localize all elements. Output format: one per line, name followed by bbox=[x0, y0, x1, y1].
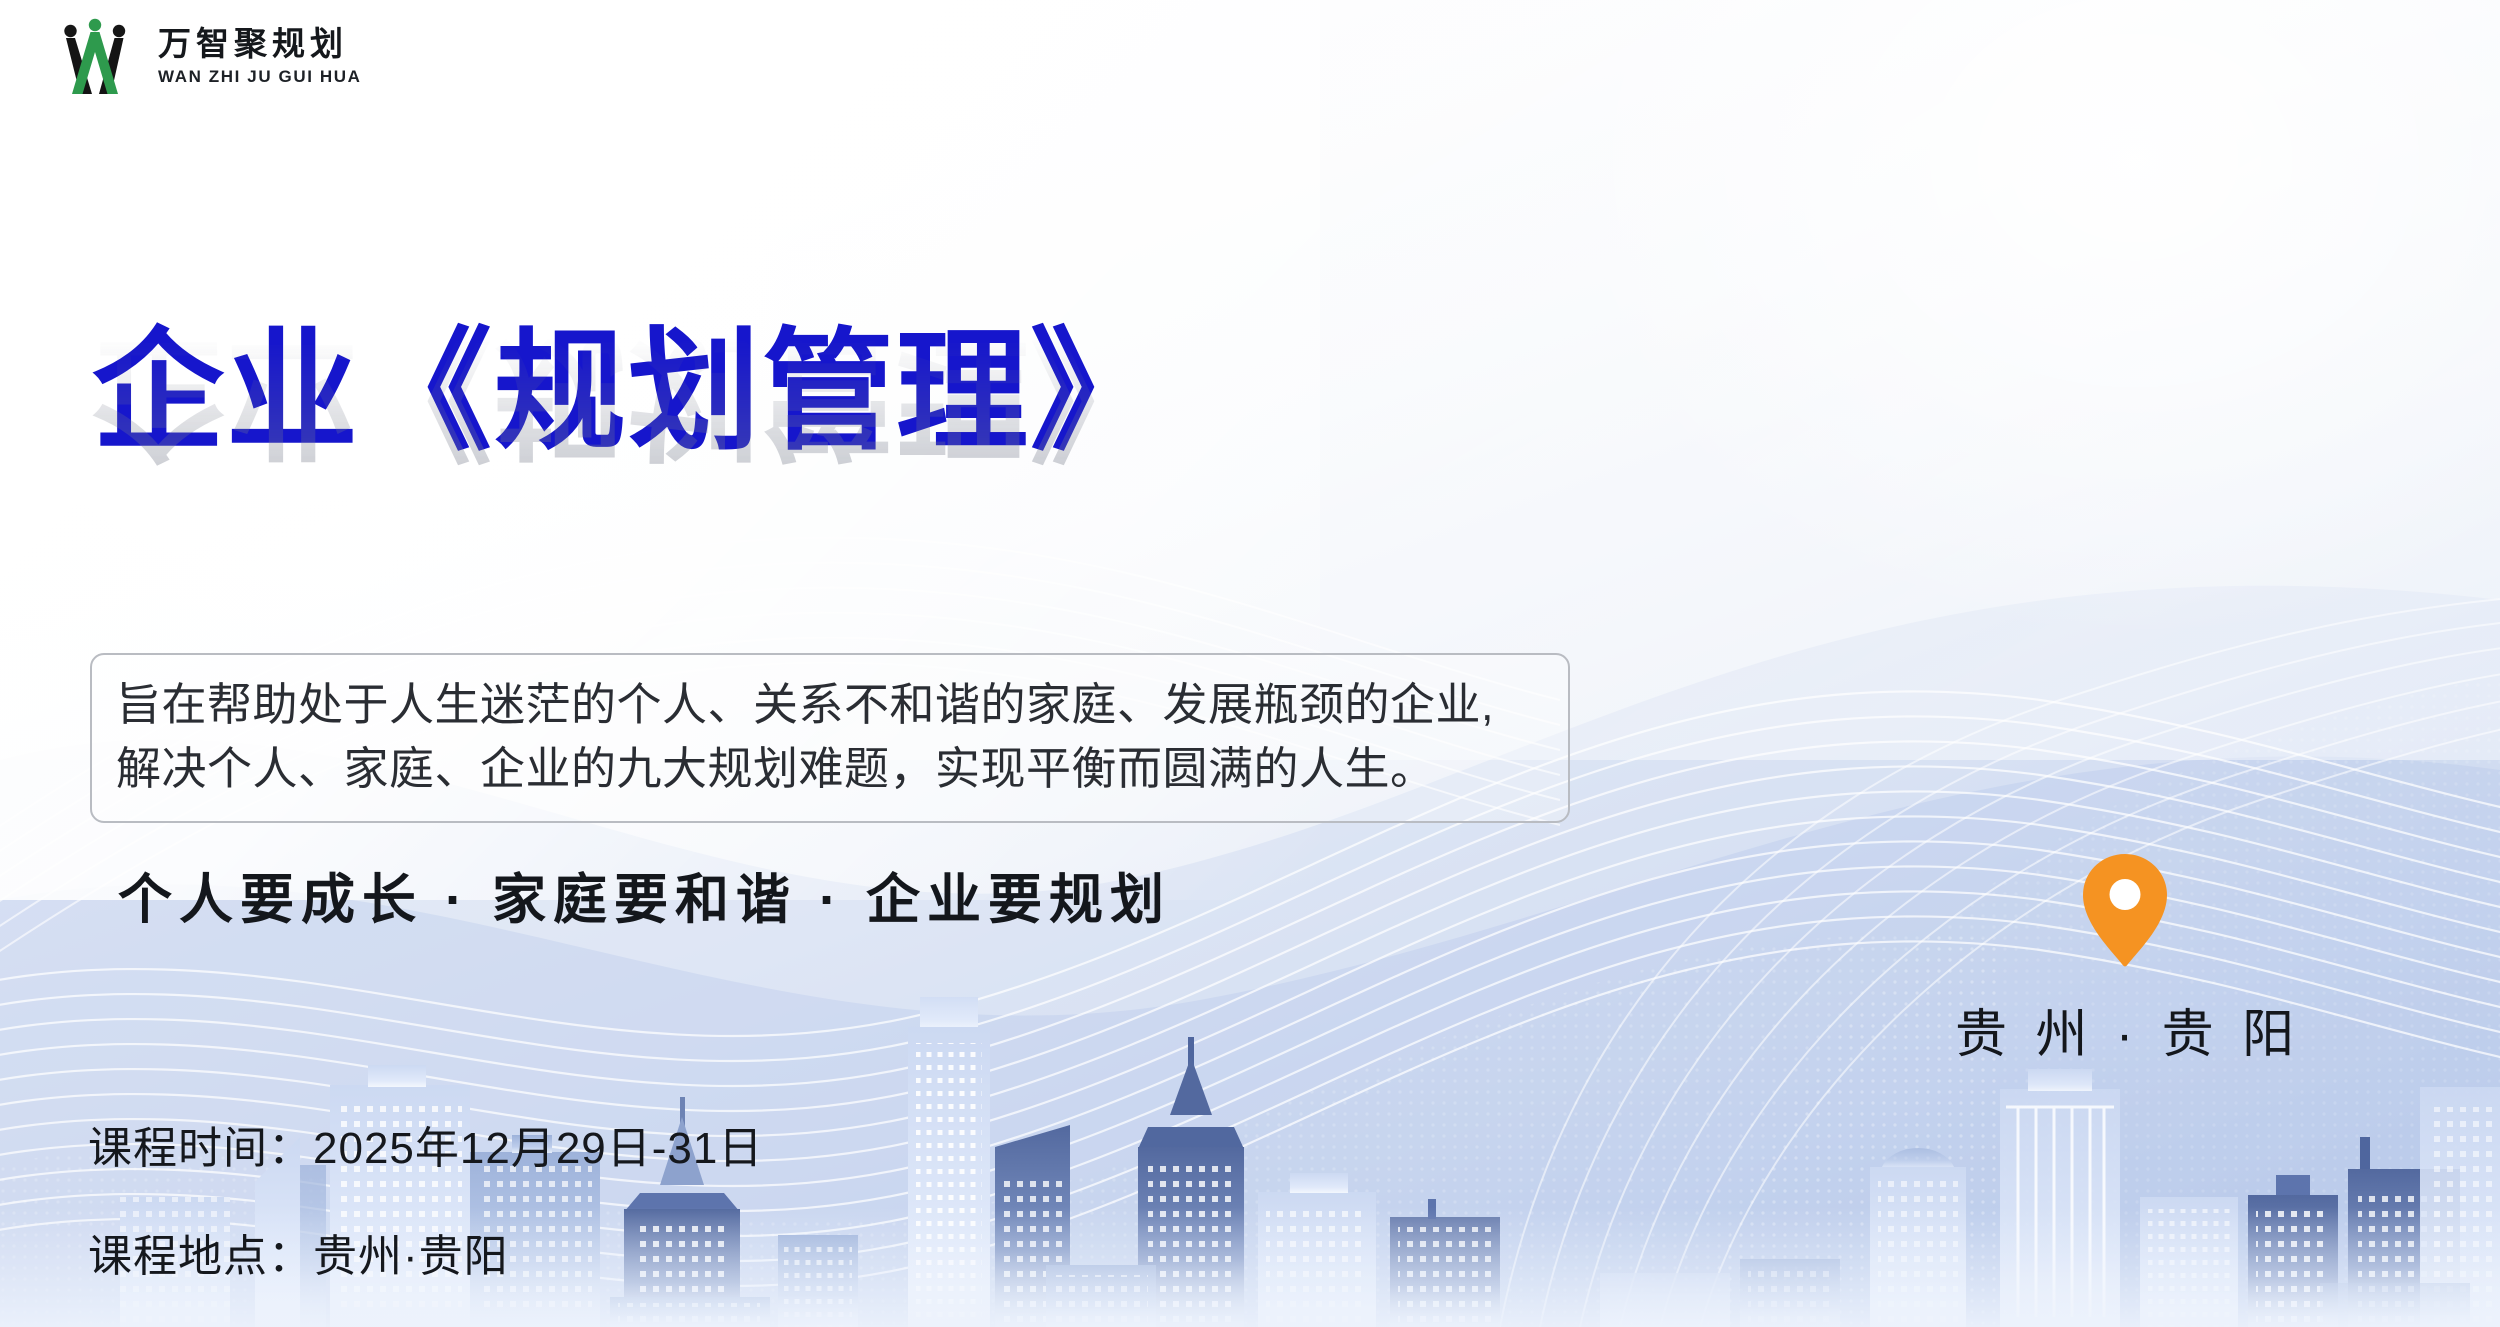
three-people-logo-icon bbox=[52, 18, 142, 96]
location-label: 贵 州 · 贵 阳 bbox=[1955, 992, 2295, 1067]
map-pin-icon bbox=[2079, 852, 2171, 970]
course-place-row: 课程地点：贵州·贵阳 bbox=[88, 1220, 763, 1284]
brand-name-cn: 万智聚规划 bbox=[158, 27, 362, 64]
headline-block: 企业《规划管理》 企业《规划管理》 bbox=[92, 322, 1692, 606]
course-info-block: 课程时间：2025年12月29日-31日 课程地点：贵州·贵阳 bbox=[88, 1112, 763, 1284]
brand-logo[interactable]: 万智聚规划 WAN ZHI JU GUI HUA bbox=[52, 18, 362, 96]
page-title-reflection: 企业《规划管理》 bbox=[92, 326, 1692, 466]
brand-logo-text: 万智聚规划 WAN ZHI JU GUI HUA bbox=[158, 27, 362, 87]
course-time-label: 课程时间： bbox=[88, 1124, 313, 1173]
description-line-2: 解决个人、家庭、企业的九大规划难题，实现平衡而圆满的人生。 bbox=[116, 737, 1542, 801]
course-place-label: 课程地点： bbox=[88, 1232, 313, 1281]
brand-name-pinyin: WAN ZHI JU GUI HUA bbox=[158, 67, 362, 87]
location-block: 贵 州 · 贵 阳 bbox=[1955, 852, 2295, 1067]
course-time-row: 课程时间：2025年12月29日-31日 bbox=[88, 1112, 763, 1176]
description-line-1: 旨在帮助处于人生迷茫的个人、关系不和谐的家庭、发展瓶颈的企业, bbox=[116, 673, 1542, 737]
course-time-value: 2025年12月29日-31日 bbox=[313, 1124, 763, 1173]
course-place-value: 贵州·贵阳 bbox=[313, 1232, 509, 1281]
course-description-box: 旨在帮助处于人生迷茫的个人、关系不和谐的家庭、发展瓶颈的企业, 解决个人、家庭、… bbox=[90, 653, 1570, 823]
promo-poster: 万智聚规划 WAN ZHI JU GUI HUA 企业《规划管理》 企业《规划管… bbox=[0, 0, 2500, 1327]
tagline: 个人要成长 · 家庭要和谐 · 企业要规划 bbox=[118, 855, 1171, 934]
